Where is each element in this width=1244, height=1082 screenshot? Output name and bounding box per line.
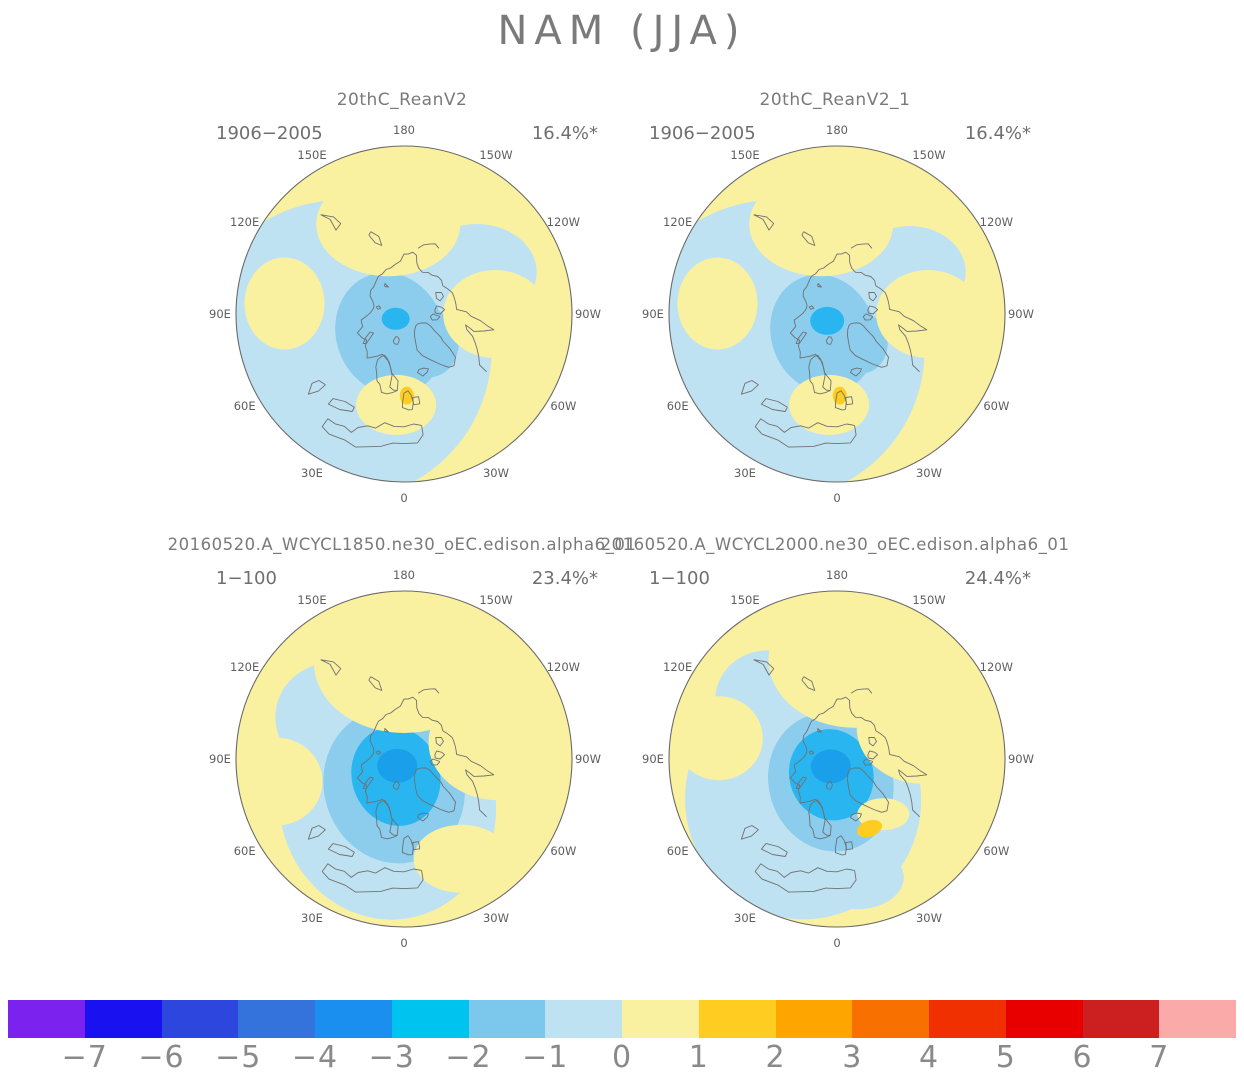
longitude-label-30W: 30W bbox=[916, 911, 942, 925]
longitude-label-90E: 90E bbox=[642, 307, 664, 321]
longitude-label-120E: 120E bbox=[663, 215, 692, 229]
polar-map: 180150W120W90W60W30W030E60E90E120E150E bbox=[234, 573, 574, 941]
longitude-label-180: 180 bbox=[393, 123, 415, 137]
longitude-label-60W: 60W bbox=[983, 399, 1009, 413]
longitude-label-0: 0 bbox=[833, 936, 840, 950]
longitude-label-90E: 90E bbox=[642, 752, 664, 766]
map-svg bbox=[667, 128, 1007, 500]
contour-positive bbox=[833, 387, 847, 405]
longitude-label-0: 0 bbox=[833, 491, 840, 505]
longitude-label-30W: 30W bbox=[483, 466, 509, 480]
contour-neutral bbox=[316, 172, 460, 276]
colorbar-bin-7 bbox=[545, 1000, 622, 1038]
figure-title: NAM (JJA) bbox=[0, 8, 1244, 54]
colorbar-bin-10 bbox=[776, 1000, 853, 1038]
contour-neutral bbox=[234, 738, 322, 826]
colorbar-tick: −6 bbox=[138, 1040, 184, 1075]
longitude-label-150E: 150E bbox=[730, 593, 759, 607]
colorbar-bin-2 bbox=[162, 1000, 239, 1038]
longitude-label-90E: 90E bbox=[209, 752, 231, 766]
polar-map: 180150W120W90W60W30W030E60E90E120E150E bbox=[234, 128, 574, 496]
longitude-label-0: 0 bbox=[400, 491, 407, 505]
colorbar-tick: −2 bbox=[445, 1040, 491, 1075]
contour-neutral bbox=[876, 270, 980, 358]
longitude-label-120E: 120E bbox=[230, 660, 259, 674]
colorbar-bin-15 bbox=[1159, 1000, 1236, 1038]
colorbar-bin-8 bbox=[622, 1000, 699, 1038]
contour-neutral bbox=[443, 270, 547, 358]
contour-negative-4 bbox=[377, 749, 417, 783]
longitude-label-180: 180 bbox=[826, 568, 848, 582]
colorbar-bin-3 bbox=[238, 1000, 315, 1038]
longitude-label-60W: 60W bbox=[550, 844, 576, 858]
colorbar-bin-11 bbox=[852, 1000, 929, 1038]
longitude-label-150E: 150E bbox=[297, 148, 326, 162]
panel-bottom-left: 20160520.A_WCYCL1850.ne30_oEC.edison.alp… bbox=[182, 535, 622, 955]
colorbar-bin-9 bbox=[699, 1000, 776, 1038]
colorbar-bin-1 bbox=[85, 1000, 162, 1038]
colorbar-bin-14 bbox=[1083, 1000, 1160, 1038]
longitude-label-60W: 60W bbox=[983, 844, 1009, 858]
polar-map: 180150W120W90W60W30W030E60E90E120E150E bbox=[667, 573, 1007, 941]
panel-title: 20160520.A_WCYCL1850.ne30_oEC.edison.alp… bbox=[168, 535, 637, 554]
longitude-label-120W: 120W bbox=[547, 660, 580, 674]
colorbar-tick: −3 bbox=[369, 1040, 415, 1075]
colorbar-tick: 7 bbox=[1149, 1040, 1169, 1075]
panel-title: 20thC_ReanV2_1 bbox=[760, 90, 911, 110]
colorbar-bin-13 bbox=[1006, 1000, 1083, 1038]
panel-top-left: 20thC_ReanV2 1906−2005 16.4%* 180150W120… bbox=[182, 90, 622, 510]
longitude-label-30E: 30E bbox=[734, 466, 756, 480]
longitude-label-30E: 30E bbox=[734, 911, 756, 925]
contour-neutral bbox=[857, 672, 989, 784]
colorbar-tick-labels: −7−6−5−4−3−2−101234567 bbox=[8, 1040, 1236, 1082]
contour-negative-4 bbox=[810, 307, 844, 335]
longitude-label-120W: 120W bbox=[547, 215, 580, 229]
colorbar-bin-4 bbox=[315, 1000, 392, 1038]
contour-positive bbox=[400, 387, 414, 405]
longitude-label-30W: 30W bbox=[483, 911, 509, 925]
colorbar-tick: 4 bbox=[919, 1040, 939, 1075]
longitude-label-120W: 120W bbox=[980, 215, 1013, 229]
colorbar-tick: 5 bbox=[996, 1040, 1016, 1075]
map-svg bbox=[667, 573, 1007, 945]
contour-neutral bbox=[245, 258, 325, 350]
contour-neutral bbox=[675, 696, 763, 780]
colorbar-tick: −1 bbox=[522, 1040, 568, 1075]
contour-negative-4 bbox=[382, 308, 410, 330]
map-svg bbox=[234, 573, 574, 945]
longitude-label-150W: 150W bbox=[912, 593, 945, 607]
longitude-label-90W: 90W bbox=[1008, 307, 1034, 321]
longitude-label-60E: 60E bbox=[234, 844, 256, 858]
longitude-label-90W: 90W bbox=[575, 307, 601, 321]
colorbar-tick: 0 bbox=[612, 1040, 632, 1075]
longitude-label-90W: 90W bbox=[1008, 752, 1034, 766]
contour-neutral bbox=[678, 258, 758, 350]
contour-negative-1 bbox=[812, 845, 904, 909]
longitude-label-60E: 60E bbox=[667, 399, 689, 413]
longitude-label-30E: 30E bbox=[301, 466, 323, 480]
longitude-label-0: 0 bbox=[400, 936, 407, 950]
colorbar-tick: −7 bbox=[62, 1040, 108, 1075]
polar-map: 180150W120W90W60W30W030E60E90E120E150E bbox=[667, 128, 1007, 496]
panel-top-right: 20thC_ReanV2_1 1906−2005 16.4%* 180150W1… bbox=[615, 90, 1055, 510]
longitude-label-150W: 150W bbox=[479, 593, 512, 607]
longitude-label-150W: 150W bbox=[479, 148, 512, 162]
panel-title: 20thC_ReanV2 bbox=[337, 90, 468, 110]
colorbar-tick: −5 bbox=[215, 1040, 261, 1075]
longitude-label-150E: 150E bbox=[730, 148, 759, 162]
colorbar-tick: 2 bbox=[765, 1040, 785, 1075]
longitude-label-120E: 120E bbox=[230, 215, 259, 229]
longitude-label-30W: 30W bbox=[916, 466, 942, 480]
longitude-label-90E: 90E bbox=[209, 307, 231, 321]
longitude-label-150E: 150E bbox=[297, 593, 326, 607]
colorbar-tick: 6 bbox=[1072, 1040, 1092, 1075]
longitude-label-90W: 90W bbox=[575, 752, 601, 766]
longitude-label-120E: 120E bbox=[663, 660, 692, 674]
panel-bottom-right: 20160520.A_WCYCL2000.ne30_oEC.edison.alp… bbox=[615, 535, 1055, 955]
colorbar bbox=[8, 1000, 1236, 1038]
contour-negative-4 bbox=[811, 749, 851, 783]
colorbar-bin-5 bbox=[392, 1000, 469, 1038]
contour-neutral bbox=[749, 172, 893, 276]
colorbar-tick: −4 bbox=[292, 1040, 338, 1075]
longitude-label-120W: 120W bbox=[980, 660, 1013, 674]
colorbar-bin-6 bbox=[469, 1000, 546, 1038]
panel-title: 20160520.A_WCYCL2000.ne30_oEC.edison.alp… bbox=[601, 535, 1070, 554]
longitude-label-30E: 30E bbox=[301, 911, 323, 925]
longitude-label-60W: 60W bbox=[550, 399, 576, 413]
contour-neutral bbox=[414, 825, 510, 893]
contour-neutral bbox=[429, 684, 569, 800]
longitude-label-60E: 60E bbox=[234, 399, 256, 413]
colorbar-bin-12 bbox=[929, 1000, 1006, 1038]
longitude-label-180: 180 bbox=[826, 123, 848, 137]
colorbar-tick: 1 bbox=[689, 1040, 709, 1075]
colorbar-tick: 3 bbox=[842, 1040, 862, 1075]
longitude-label-60E: 60E bbox=[667, 844, 689, 858]
map-svg bbox=[234, 128, 574, 500]
longitude-label-180: 180 bbox=[393, 568, 415, 582]
longitude-label-150W: 150W bbox=[912, 148, 945, 162]
colorbar-bin-0 bbox=[8, 1000, 85, 1038]
